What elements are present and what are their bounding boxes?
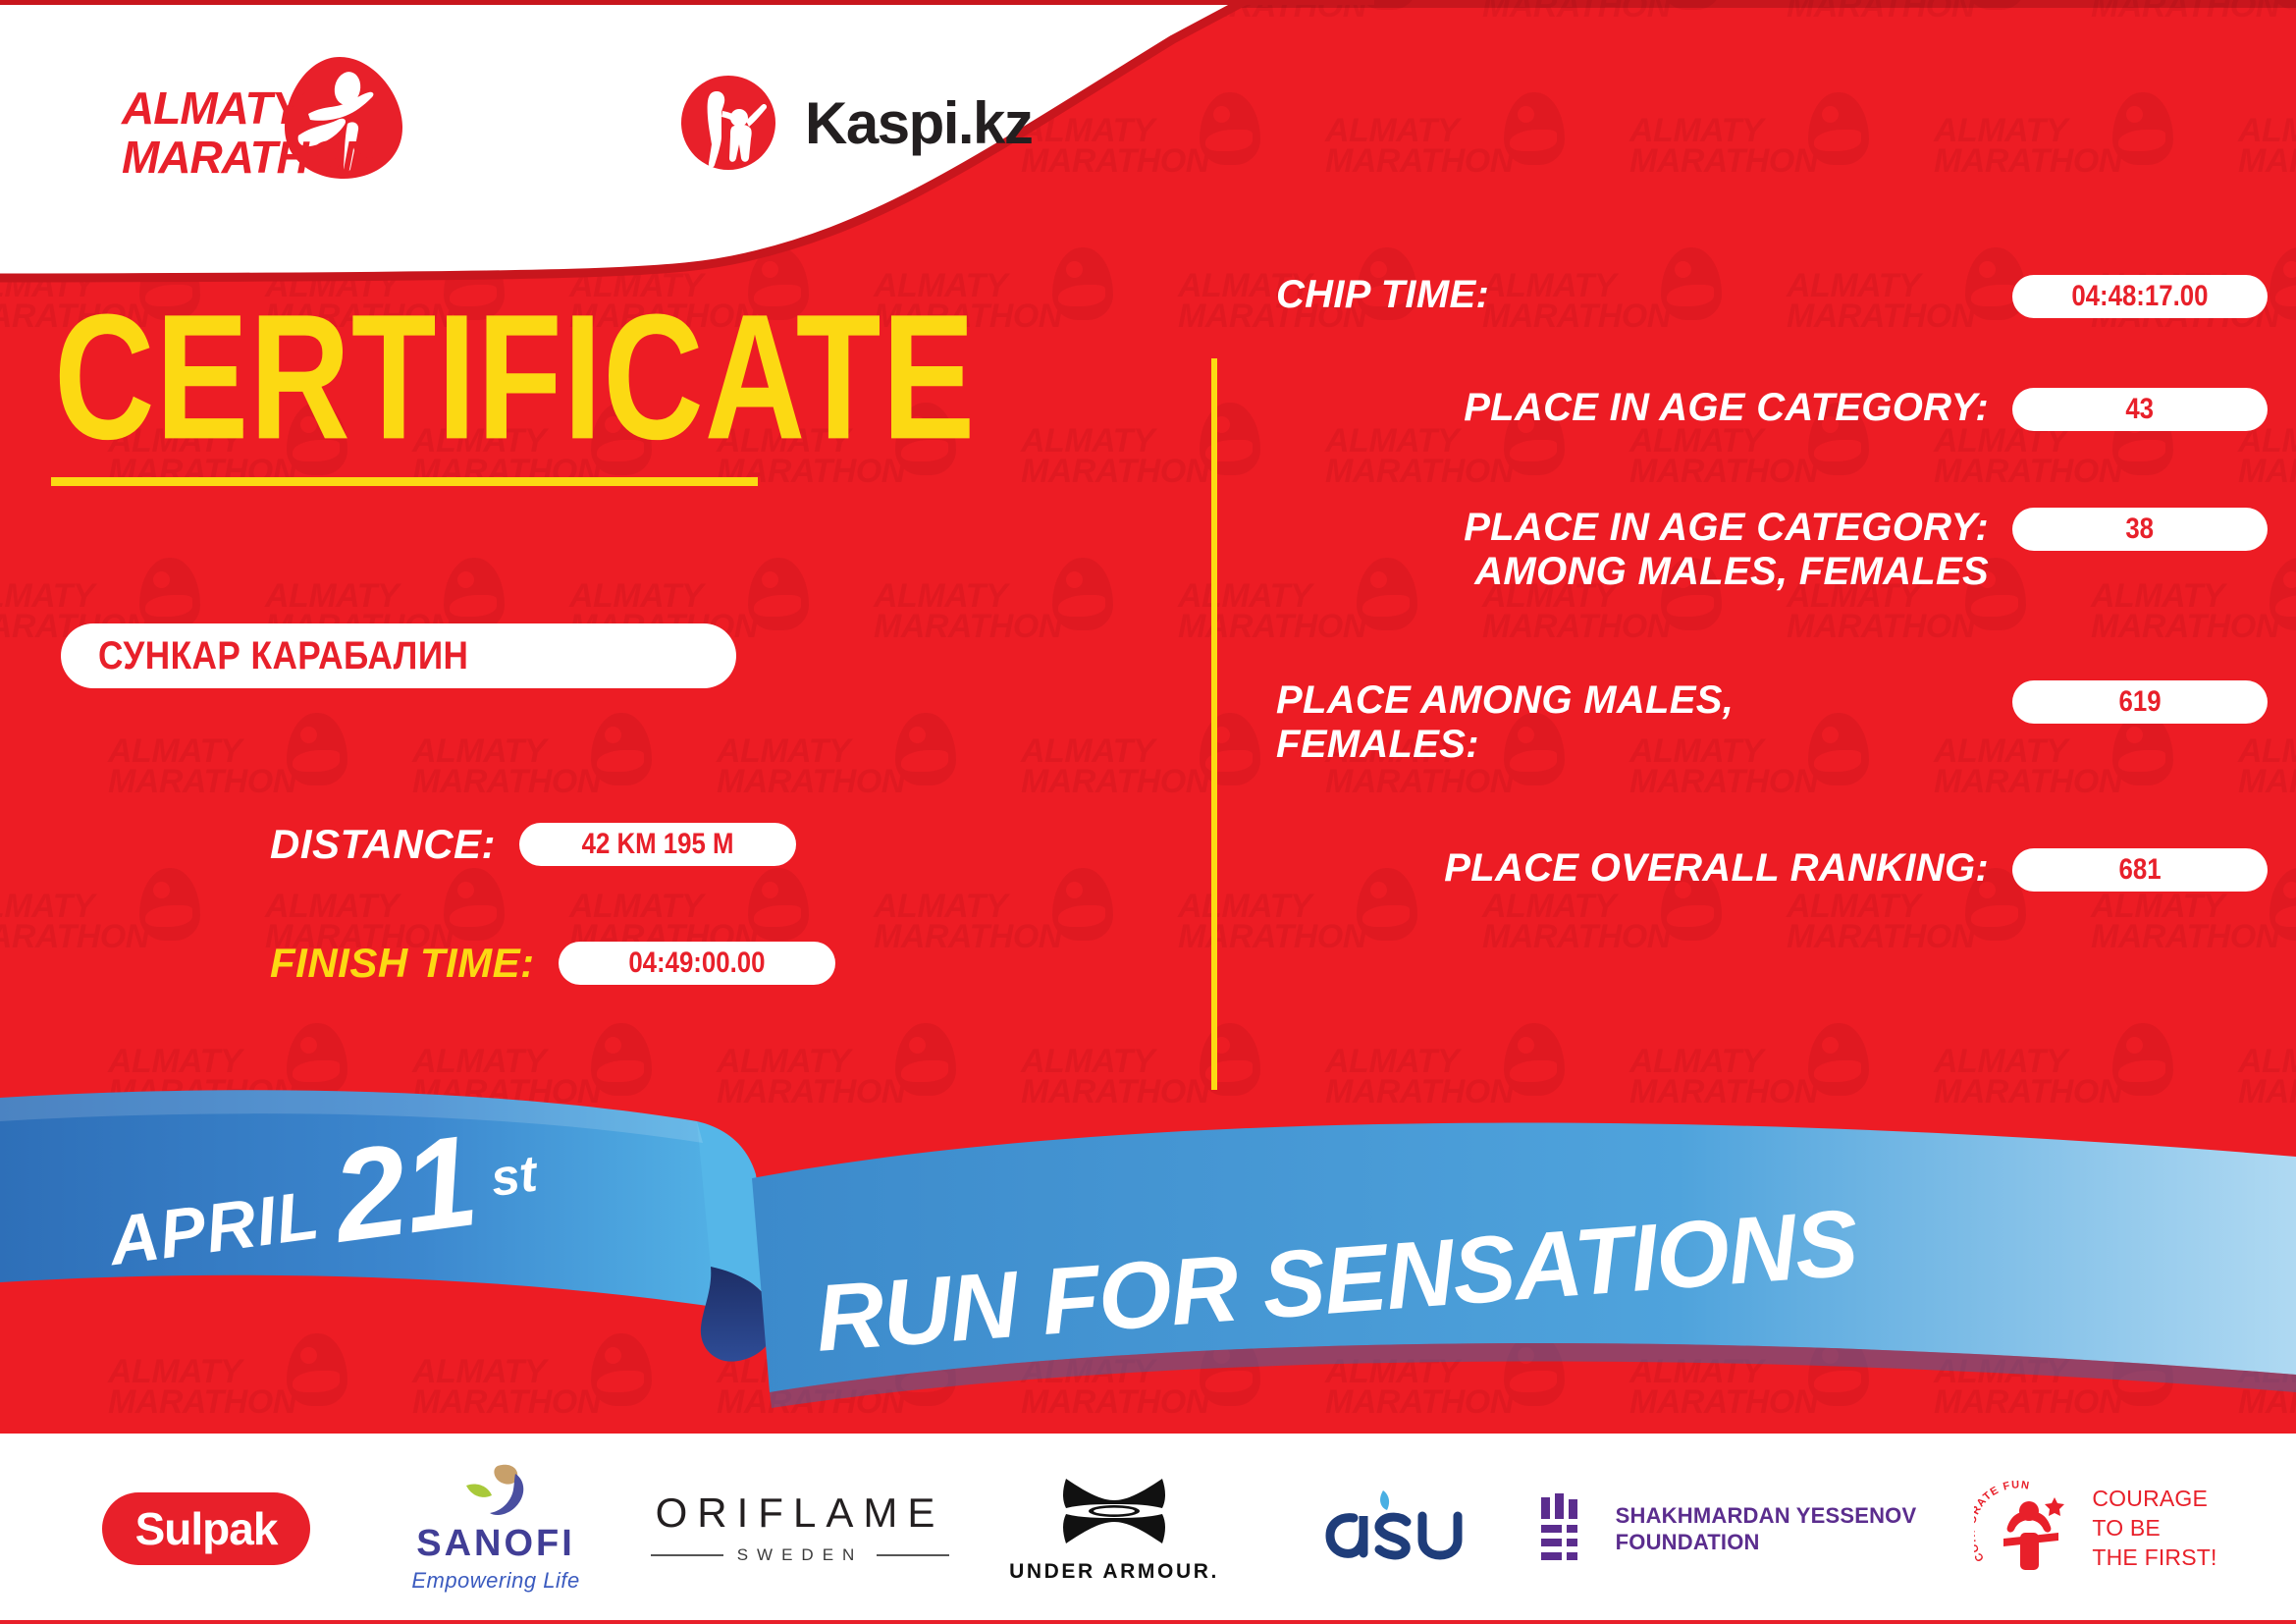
watermark-tile: ALMATYMARATHON bbox=[1325, 426, 1571, 488]
watermark-tile: ALMATYMARATHON bbox=[1787, 0, 2032, 23]
chip-time-value-pill: 04:48:17.00 bbox=[2012, 275, 2268, 318]
sponsor-sanofi: SANOFI Empowering Life bbox=[353, 1465, 638, 1593]
place-age-category-value-pill: 43 bbox=[2012, 388, 2268, 431]
certificate-title: CERTIFICATE bbox=[54, 275, 976, 481]
place-age-category-gender-value-pill: 38 bbox=[2012, 508, 2268, 551]
watermark-tile: ALMATYMARATHON bbox=[874, 892, 1119, 953]
sponsor-courage-fund: CORPORATE FUND COURAGE TO BE THE FIRST! bbox=[1934, 1465, 2258, 1593]
event-day: 21 bbox=[328, 1127, 481, 1251]
under-armour-wordmark: UNDER ARMOUR. bbox=[1009, 1560, 1219, 1584]
distance-row: DISTANCE: 42 KM 195 M bbox=[270, 821, 796, 868]
almaty-marathon-logo: ALMATY MARATHON bbox=[116, 51, 440, 189]
place-overall-label: PLACE OVERALL RANKING: bbox=[1276, 846, 1989, 891]
place-among-gender-label: PLACE AMONG MALES, FEMALES: bbox=[1276, 678, 1989, 767]
oriflame-tagline-row: SWEDEN bbox=[651, 1545, 950, 1565]
watermark-tile: ALMATYMARATHON bbox=[1482, 892, 1728, 953]
distance-value: 42 KM 195 M bbox=[582, 828, 734, 861]
under-armour-logo-icon bbox=[1056, 1475, 1172, 1547]
distance-value-pill: 42 KM 195 M bbox=[519, 823, 796, 866]
place-age-category-gender-label: PLACE IN AGE CATEGORY: AMONG MALES, FEMA… bbox=[1276, 506, 1989, 594]
asu-logo-icon bbox=[1320, 1483, 1468, 1561]
sanofi-tagline: Empowering Life bbox=[411, 1568, 579, 1594]
chip-time-label: CHIP TIME: bbox=[1276, 273, 1989, 317]
sanofi-logo-icon bbox=[458, 1464, 533, 1519]
kaspi-logo-icon bbox=[677, 72, 779, 174]
yessenov-label-line2: FOUNDATION bbox=[1616, 1529, 1917, 1556]
yessenov-wordmark: SHAKHMARDAN YESSENOV FOUNDATION bbox=[1616, 1502, 1917, 1556]
result-row-place-overall: PLACE OVERALL RANKING: 681 bbox=[1276, 846, 2268, 892]
kaspi-wordmark: Kaspi.kz bbox=[805, 89, 1032, 157]
place-age-category-gender-value: 38 bbox=[2126, 513, 2155, 546]
watermark-tile: ALMATYMARATHON bbox=[1629, 116, 1875, 178]
watermark-tile: ALMATYMARATHON bbox=[2091, 0, 2296, 23]
finish-time-value-pill: 04:49:00.00 bbox=[559, 942, 835, 985]
place-overall-value: 681 bbox=[2118, 853, 2161, 887]
watermark-tile: ALMATYMARATHON bbox=[1482, 0, 1728, 23]
sponsor-yessenov-foundation: SHAKHMARDAN YESSENOV FOUNDATION bbox=[1522, 1465, 1934, 1593]
finish-time-value: 04:49:00.00 bbox=[628, 947, 765, 980]
svg-text:ALMATY: ALMATY bbox=[121, 82, 306, 134]
place-among-gender-label-line1: PLACE AMONG MALES, bbox=[1276, 678, 1989, 723]
title-underline bbox=[51, 477, 758, 486]
watermark-tile: ALMATYMARATHON bbox=[1934, 426, 2179, 488]
yessenov-label-line1: SHAKHMARDAN YESSENOV bbox=[1616, 1502, 1917, 1530]
result-row-chip-time: CHIP TIME: 04:48:17.00 bbox=[1276, 273, 2268, 318]
result-row-place-age-category-gender: PLACE IN AGE CATEGORY: AMONG MALES, FEMA… bbox=[1276, 506, 2268, 594]
place-age-category-gender-label-line2: AMONG MALES, FEMALES bbox=[1276, 550, 1989, 594]
watermark-tile: ALMATYMARATHON bbox=[1021, 426, 1266, 488]
result-row-place-age-category: PLACE IN AGE CATEGORY: 43 bbox=[1276, 386, 2268, 431]
participant-name-field: СУНКАР КАРАБАЛИН bbox=[61, 623, 736, 688]
sponsor-oriflame: ORIFLAME SWEDEN bbox=[638, 1465, 962, 1593]
watermark-tile: ALMATYMARATHON bbox=[2238, 426, 2296, 488]
chip-time-value: 04:48:17.00 bbox=[2071, 280, 2208, 313]
place-age-category-gender-label-line1: PLACE IN AGE CATEGORY: bbox=[1276, 506, 1989, 550]
distance-label: DISTANCE: bbox=[270, 821, 496, 868]
participant-name: СУНКАР КАРАБАЛИН bbox=[98, 634, 468, 678]
courage-fund-logo-icon: CORPORATE FUND bbox=[1974, 1476, 2080, 1582]
bottom-edge-rule bbox=[0, 1620, 2296, 1624]
sponsor-bar: Sulpak SANOFI Empowering Life ORIFLAME bbox=[0, 1434, 2296, 1624]
sponsor-under-armour: UNDER ARMOUR. bbox=[962, 1465, 1266, 1593]
finish-time-label: FINISH TIME: bbox=[270, 940, 535, 987]
finish-time-row: FINISH TIME: 04:49:00.00 bbox=[270, 940, 835, 987]
svg-text:MARATHON: MARATHON bbox=[122, 132, 376, 183]
courage-fund-wordmark: COURAGE TO BE THE FIRST! bbox=[2092, 1485, 2216, 1573]
sulpak-logo: Sulpak bbox=[102, 1492, 311, 1565]
watermark-tile: ALMATYMARATHON bbox=[1021, 736, 1266, 798]
yessenov-logo-icon bbox=[1539, 1493, 1596, 1564]
almaty-marathon-logo-icon: ALMATY MARATHON bbox=[116, 51, 440, 189]
watermark-tile: ALMATYMARATHON bbox=[717, 736, 962, 798]
watermark-tile: ALMATYMARATHON bbox=[108, 736, 353, 798]
place-age-category-label: PLACE IN AGE CATEGORY: bbox=[1276, 386, 1989, 430]
watermark-tile: ALMATYMARATHON bbox=[0, 892, 206, 953]
place-among-gender-value: 619 bbox=[2118, 685, 2161, 719]
oriflame-tagline: SWEDEN bbox=[737, 1545, 864, 1565]
watermark-tile: ALMATYMARATHON bbox=[874, 581, 1119, 643]
watermark-tile: ALMATYMARATHON bbox=[2091, 892, 2296, 953]
kaspi-logo: Kaspi.kz bbox=[677, 69, 1090, 177]
asu-logo bbox=[1320, 1483, 1468, 1575]
watermark-tile: ALMATYMARATHON bbox=[2238, 116, 2296, 178]
watermark-tile: ALMATYMARATHON bbox=[1787, 892, 2032, 953]
oriflame-rule-right bbox=[877, 1554, 949, 1556]
courage-label-line1: COURAGE bbox=[2092, 1485, 2216, 1514]
watermark-tile: ALMATYMARATHON bbox=[1629, 426, 1875, 488]
sanofi-wordmark: SANOFI bbox=[411, 1525, 579, 1562]
place-overall-value-pill: 681 bbox=[2012, 848, 2268, 892]
courage-label-line2: TO BE bbox=[2092, 1514, 2216, 1543]
certificate-page: ALMATYMARATHONALMATYMARATHONALMATYMARATH… bbox=[0, 0, 2296, 1624]
sponsor-sulpak: Sulpak bbox=[59, 1465, 353, 1593]
vertical-divider bbox=[1211, 358, 1217, 1090]
sponsor-asu bbox=[1266, 1465, 1522, 1593]
watermark-tile: ALMATYMARATHON bbox=[1934, 116, 2179, 178]
watermark-tile: ALMATYMARATHON bbox=[412, 736, 658, 798]
oriflame-rule-left bbox=[651, 1554, 723, 1556]
place-among-gender-label-line2: FEMALES: bbox=[1276, 723, 1989, 767]
result-row-place-among-gender: PLACE AMONG MALES, FEMALES: 619 bbox=[1276, 678, 2268, 767]
courage-label-line3: THE FIRST! bbox=[2092, 1543, 2216, 1573]
place-among-gender-value-pill: 619 bbox=[2012, 680, 2268, 724]
oriflame-wordmark: ORIFLAME bbox=[651, 1492, 950, 1534]
place-age-category-value: 43 bbox=[2126, 393, 2155, 426]
